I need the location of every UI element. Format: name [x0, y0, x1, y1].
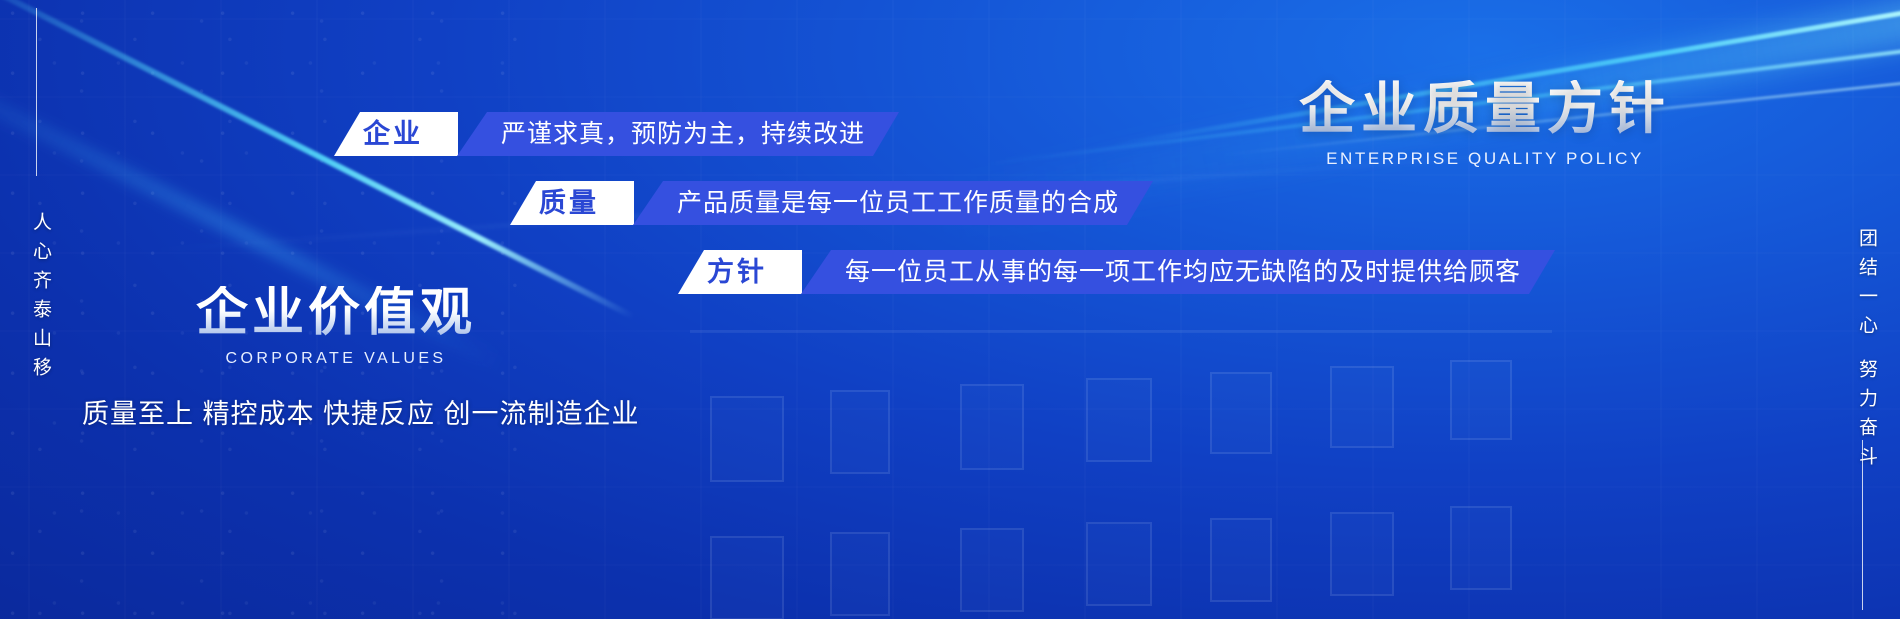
policy-row-tab: 方针 [678, 250, 802, 294]
policy-row-label: 企业 [363, 121, 423, 148]
values-slogan: 质量至上 精控成本 快捷反应 创一流制造企业 [82, 392, 640, 431]
policy-heading-en: ENTERPRISE QUALITY POLICY [1285, 149, 1685, 169]
values-heading-en: CORPORATE VALUES [196, 350, 476, 368]
policy-row: 质量 产品质量是每一位员工工作质量的合成 [510, 181, 1153, 225]
policy-row-tab: 企业 [334, 112, 458, 156]
policy-heading-cn: 企业质量方针 [1285, 80, 1685, 139]
policy-row-text: 每一位员工从事的每一项工作均应无缺陷的及时提供给顾客 [845, 260, 1521, 285]
policy-heading-block: 企业质量方针 ENTERPRISE QUALITY POLICY [1285, 80, 1685, 169]
policy-row-tab: 质量 [510, 181, 634, 225]
policy-row-bar: 每一位员工从事的每一项工作均应无缺陷的及时提供给顾客 [801, 250, 1555, 294]
policy-row-text: 产品质量是每一位员工工作质量的合成 [677, 191, 1119, 216]
policy-row: 方针 每一位员工从事的每一项工作均应无缺陷的及时提供给顾客 [678, 250, 1555, 294]
quality-policy-banner: 人心齐泰山移 团结一心 努力奋斗 企业质量方针 ENTERPRISE QUALI… [0, 0, 1900, 619]
policy-row-text: 严谨求真，预防为主，持续改进 [501, 122, 865, 147]
left-vertical-slogan: 人心齐泰山移 [27, 212, 54, 386]
policy-row: 企业 严谨求真，预防为主，持续改进 [334, 112, 899, 156]
left-vertical-rule [36, 8, 37, 176]
policy-row-label: 方针 [707, 259, 767, 286]
values-heading-block: 企业价值观 CORPORATE VALUES [196, 286, 476, 368]
values-heading-cn: 企业价值观 [196, 286, 476, 341]
policy-row-label: 质量 [539, 190, 599, 217]
right-vertical-slogan: 团结一心 努力奋斗 [1853, 228, 1880, 475]
right-vertical-rule [1862, 440, 1863, 610]
policy-row-bar: 严谨求真，预防为主，持续改进 [457, 112, 899, 156]
policy-row-bar: 产品质量是每一位员工工作质量的合成 [633, 181, 1153, 225]
